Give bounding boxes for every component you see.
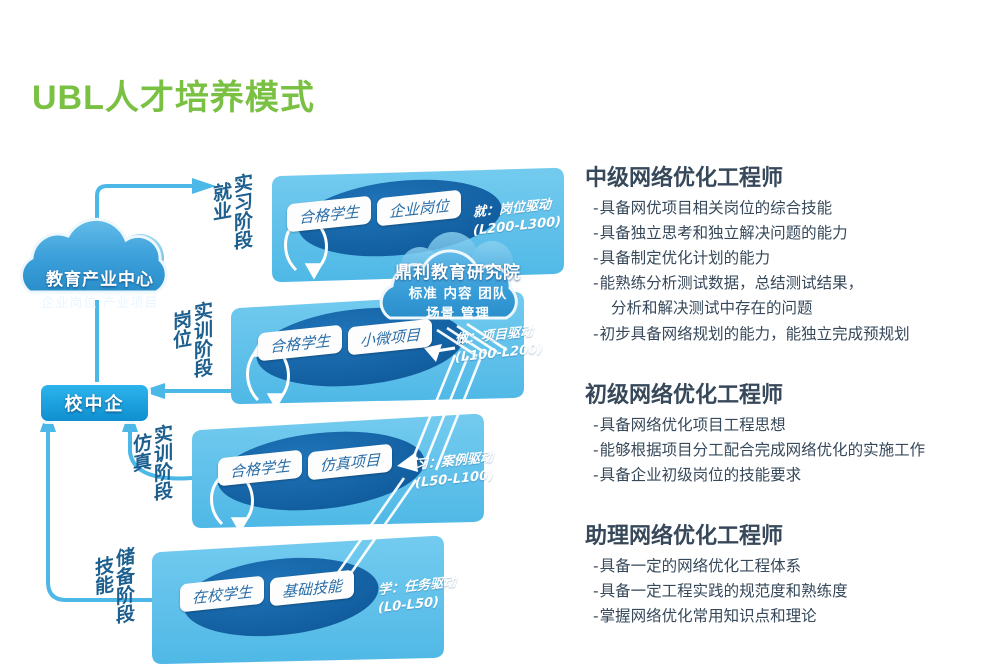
list-item-text: 具备制定优化计划的能力 [600, 249, 771, 267]
list-item: -具备制定优化计划的能力 [585, 246, 1005, 271]
section-items: -具备一定的网络优化工程体系 -具备一定工程实践的规范度和熟练度 -掌握网络优化… [585, 554, 1005, 629]
stage-char: 真 [133, 452, 152, 474]
stage-char: 位 [173, 329, 192, 351]
stage-char: 段 [194, 358, 213, 380]
section-heading: 助理网络优化工程师 [585, 518, 1005, 550]
list-item: -具备网络优化项目工程思想 [585, 413, 1005, 438]
stage-label-internship: 实 习 阶 段 就 业 [213, 175, 253, 251]
stage-char: 能 [95, 575, 114, 597]
section-junior-engineer: 初级网络优化工程师 -具备网络优化项目工程思想 -能够根据项目分工配合完成网络优… [585, 377, 1005, 488]
stage-label-simulation: 实 训 阶 段 仿 真 [133, 426, 173, 502]
list-item: -具备一定工程实践的规范度和熟练度 [585, 579, 1005, 604]
section-heading: 中级网络优化工程师 [585, 160, 1005, 192]
list-item: -具备网优项目相关岗位的综合技能 [585, 196, 1005, 221]
list-item: -能熟练分析测试数据，总结测试结果， [585, 271, 1005, 296]
section-intermediate-engineer: 中级网络优化工程师 -具备网优项目相关岗位的综合技能 -具备独立思考和独立解决问… [585, 160, 1005, 347]
list-item-text: 具备独立思考和独立解决问题的能力 [600, 224, 848, 242]
dash: - [593, 607, 599, 625]
dash: - [593, 199, 599, 217]
flow-layer2-to-box [141, 383, 232, 399]
list-item: -能够根据项目分工配合完成网络优化的实施工作 [585, 438, 1005, 463]
dash: - [593, 416, 599, 434]
list-item-text: 分析和解决测试中存在的问题 [611, 299, 813, 317]
list-item-text: 具备企业初级岗位的技能要求 [600, 466, 802, 484]
list-item-text: 具备一定工程实践的规范度和熟练度 [600, 582, 848, 600]
dash: - [593, 325, 599, 343]
list-item-text: 掌握网络优化常用知识点和理论 [600, 607, 817, 625]
list-item: -具备企业初级岗位的技能要求 [585, 463, 1005, 488]
list-item-text: 初步具备网络规划的能力，能独立完成预规划 [600, 325, 910, 343]
dash: - [593, 582, 599, 600]
list-item-text: 能熟练分析测试数据，总结测试结果， [600, 274, 864, 292]
stage-label-reserve: 储 备 阶 段 技 能 [95, 549, 135, 625]
section-gap [585, 502, 1005, 518]
dash: - [593, 466, 599, 484]
list-item-text: 具备网络优化项目工程思想 [600, 416, 786, 434]
dash: - [593, 557, 599, 575]
section-items: -具备网络优化项目工程思想 -能够根据项目分工配合完成网络优化的实施工作 -具备… [585, 413, 1005, 488]
section-heading: 初级网络优化工程师 [585, 377, 1005, 409]
stage-char: 业 [213, 201, 232, 223]
dash: - [593, 249, 599, 267]
stage-char: 段 [234, 230, 253, 252]
stage-char: 段 [116, 604, 135, 626]
xiaozhongqi-box[interactable] [38, 382, 151, 424]
list-item: -具备独立思考和独立解决问题的能力 [585, 221, 1005, 246]
list-item-text: 能够根据项目分工配合完成网络优化的实施工作 [600, 441, 926, 459]
section-assistant-engineer: 助理网络优化工程师 -具备一定的网络优化工程体系 -具备一定工程实践的规范度和熟… [585, 518, 1005, 629]
stage-label-post-training: 实 训 阶 段 岗 位 [173, 303, 213, 379]
list-item-text: 具备一定的网络优化工程体系 [600, 557, 802, 575]
dash: - [593, 274, 599, 292]
list-item: -掌握网络优化常用知识点和理论 [585, 604, 1005, 629]
list-item: -初步具备网络规划的能力，能独立完成预规划 [585, 322, 1005, 347]
list-item-continuation: 分析和解决测试中存在的问题 [585, 296, 1005, 321]
dash: - [593, 441, 599, 459]
list-item: -具备一定的网络优化工程体系 [585, 554, 1005, 579]
section-items: -具备网优项目相关岗位的综合技能 -具备独立思考和独立解决问题的能力 -具备制定… [585, 196, 1005, 347]
cloud-education-industry-center[interactable] [21, 219, 166, 292]
list-item-text: 具备网优项目相关岗位的综合技能 [600, 199, 833, 217]
stage-char: 段 [154, 481, 173, 503]
section-gap [585, 361, 1005, 377]
dash: - [593, 224, 599, 242]
qualification-list: 中级网络优化工程师 -具备网优项目相关岗位的综合技能 -具备独立思考和独立解决问… [585, 160, 1005, 643]
